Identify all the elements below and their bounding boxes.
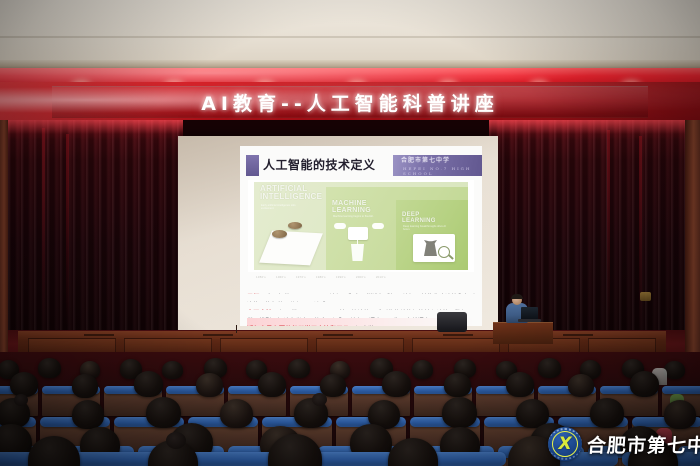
watermark-school-name: 合肥市第七中学: [586, 431, 700, 458]
stage-curtain-left: [8, 120, 183, 346]
audience-head: [134, 371, 163, 397]
panel-sub-ml: Machine learning begins to flourish.: [333, 215, 379, 218]
audience-head: [162, 361, 183, 379]
slide-header: 人工智能的技术定义 合肥市第七中学 HEFEI NO.7 HIGH SCHOOL: [240, 155, 482, 176]
panel-label-dl: DEEP LEARNING: [402, 212, 448, 224]
audience-head: [590, 398, 624, 428]
audience-head: [288, 359, 310, 378]
slide-title: 人工智能的技术定义: [263, 156, 376, 173]
presenter-desk: [493, 322, 553, 344]
panel-sub-dl: Deep learning breakthroughs drive AI boo…: [403, 225, 449, 232]
banner-panel: AI教育--人工智能科普讲座: [52, 86, 648, 118]
cat-icon: [424, 240, 437, 256]
slide-infographic: ARTIFICIAL INTELLIGENCE Early artificial…: [248, 180, 474, 272]
slide-body-line: 决策、执行的AI软机从而达成: [247, 294, 475, 302]
timeline-tick: 1960's: [276, 275, 286, 279]
microphone-stand: [236, 325, 237, 333]
audience-head: [506, 372, 534, 397]
presentation-slide: 人工智能的技术定义 合肥市第七中学 HEFEI NO.7 HIGH SCHOOL…: [240, 146, 482, 326]
ceiling: [0, 0, 700, 62]
timeline-tick: 1980's: [316, 275, 326, 279]
audience-head: [146, 397, 181, 428]
curtain-fold: [639, 136, 642, 332]
presenter-hair: [511, 294, 523, 299]
audience-head: [630, 371, 659, 397]
table-slot: [443, 334, 473, 336]
slide-timeline: 1950's 1960's 1970's 1980's 1990's 2000'…: [248, 272, 474, 282]
logo-glyph: X: [554, 432, 576, 456]
table-slot: [323, 334, 353, 336]
event-banner: AI教育--人工智能科普讲座: [0, 82, 700, 122]
auditorium-photo: AI教育--人工智能科普讲座 人工智能的技术定义 合肥市第七中学 HEFEI N…: [0, 0, 700, 466]
curtain-fold: [66, 134, 69, 326]
ml-screen-icon: [348, 227, 368, 240]
audience-head: [664, 361, 685, 379]
audience-head: [382, 371, 411, 397]
school-logo-icon: X: [548, 427, 582, 461]
audience-head: [412, 360, 433, 379]
curtain-fold: [607, 130, 610, 335]
stage-side-wall-right: [684, 120, 700, 352]
timeline-tick: 2000's: [356, 275, 366, 279]
audience-head: [220, 399, 253, 428]
audience-head: [72, 374, 98, 398]
curtain-fold: [42, 128, 45, 328]
slide-header-school-banner: 合肥市第七中学 HEFEI NO.7 HIGH SCHOOL: [393, 155, 482, 176]
table-slot: [84, 334, 114, 336]
projection-screen: 人工智能的技术定义 合肥市第七中学 HEFEI NO.7 HIGH SCHOOL…: [178, 136, 498, 334]
audience-head: [538, 358, 561, 378]
slide-header-accent: [246, 155, 259, 176]
go-stone-icon: [288, 222, 302, 229]
timeline-tick: 1970's: [296, 275, 306, 279]
panel-label-ai: ARTIFICIAL INTELLIGENCE: [260, 185, 320, 201]
audience-head: [664, 400, 696, 429]
ml-funnel-icon: [351, 244, 364, 261]
slide-body-line: 实现方法：机器学习（Machine Learning）基于统计的、系列化的计算机…: [247, 302, 475, 310]
audience-head: [568, 374, 594, 397]
audience-head: [442, 397, 477, 428]
slide-body-line: 目标：人工智能（Artificial Intelligence）让机器和人一样进…: [247, 286, 475, 294]
audience-head: [10, 372, 38, 397]
audience-head: [72, 400, 104, 429]
audience-head: [444, 373, 471, 397]
audience-head: [258, 372, 286, 397]
audience-hair-bun: [312, 393, 327, 406]
panel-sub-ai: Early artificial intelligence stirs exci…: [261, 204, 307, 211]
panel-label-ml: MACHINE LEARNING: [332, 200, 386, 214]
ml-node-icon: [372, 223, 384, 229]
ceiling-seam: [0, 36, 700, 38]
banner-title: AI教育--人工智能科普讲座: [201, 89, 499, 116]
audience-head: [196, 373, 223, 397]
timeline-tick: 1950's: [256, 275, 266, 279]
timeline-tick: 1990's: [336, 275, 346, 279]
curtain-tieback: [640, 292, 651, 301]
audience-hair-bun: [166, 432, 186, 449]
school-name-pinyin: HEFEI NO.7 HIGH SCHOOL: [403, 166, 482, 176]
timeline-tick: 2010's: [376, 275, 386, 279]
table-slot: [563, 334, 593, 336]
school-name-calligraphy: 合肥市第七中学: [401, 157, 478, 164]
projector: [437, 312, 467, 332]
audience-head: [38, 358, 61, 378]
seat-headrest: [662, 386, 700, 394]
table-slot: [203, 334, 233, 336]
watermark: X 合肥市第七中学: [548, 427, 700, 461]
ml-node-icon: [334, 223, 346, 229]
audience-hair-bun: [14, 394, 28, 406]
go-stone-icon: [272, 230, 287, 238]
presenter-laptop-base: [518, 319, 541, 322]
